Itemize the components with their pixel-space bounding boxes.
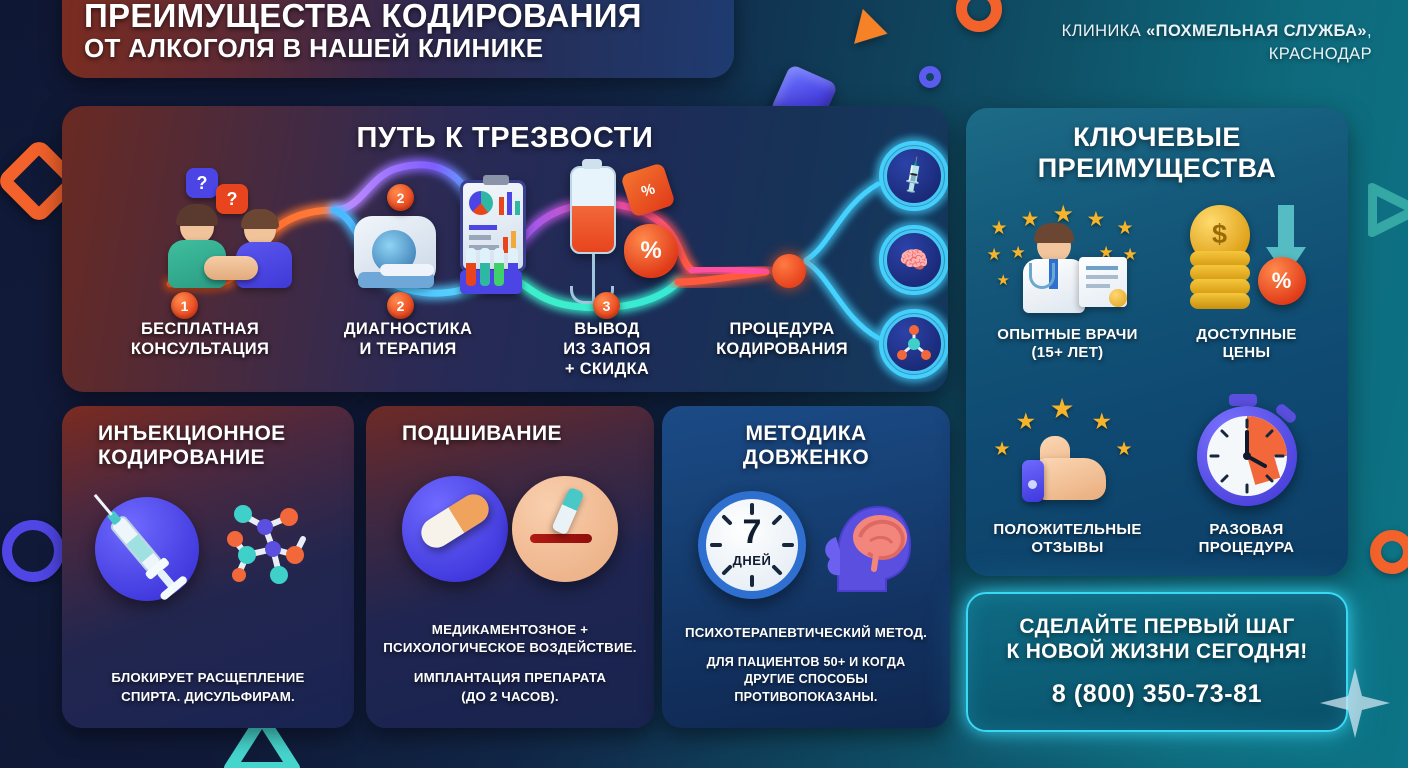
method-desc-2-p1: МЕДИКАМЕНТОЗНОЕ + ПСИХОЛОГИЧЕСКОЕ ВОЗДЕЙ… (383, 621, 636, 658)
cta-line1: СДЕЛАЙТЕ ПЕРВЫЙ ШАГ (1006, 615, 1307, 640)
clock-unit: ДНЕЙ (698, 553, 806, 568)
key-advantages-card: КЛЮЧЕВЫЕ ПРЕИМУЩЕСТВА ★ ★ ★ ★ ★ ★ ★ ★ ★ (966, 108, 1348, 576)
molecule-icon (884, 314, 944, 374)
brand-clinic-name: КЛИНИКА «ПОХМЕЛЬНАЯ СЛУЖБА», КРАСНОДАР (1052, 20, 1372, 66)
step-badge-3: 3 (593, 292, 620, 319)
clock-number: 7 (698, 513, 806, 552)
method-desc-2-p2: ИМПЛАНТАЦИЯ ПРЕПАРАТА (ДО 2 ЧАСОВ). (383, 669, 636, 706)
purple-ring-outline-icon (2, 520, 64, 582)
method-title-3: МЕТОДИКА ДОВЖЕНКО (743, 422, 869, 469)
step-badge-1: 1 (171, 292, 198, 319)
method-title-2: ПОДШИВАНИЕ (380, 422, 562, 446)
method-desc-3-p1: ПСИХОТЕРАПЕВТИЧЕСКИЙ МЕТОД. (685, 624, 927, 642)
advantage-label-1: ОПЫТНЫЕ ВРАЧИ (15+ ЛЕТ) (997, 326, 1137, 362)
method-art-2 (402, 476, 618, 582)
method-title-1: ИНЪЕКЦИОННОЕ КОДИРОВАНИЕ (76, 422, 286, 469)
cta-line2: К НОВОЙ ЖИЗНИ СЕГОДНЯ! (1006, 640, 1307, 665)
path-to-sobriety-card: ПУТЬ К ТРЕЗВОСТИ (62, 106, 948, 392)
teal-triangle-outline-right-icon (1368, 182, 1408, 243)
cta-panel[interactable]: СДЕЛАЙТЕ ПЕРВЫЙ ШАГ К НОВОЙ ЖИЗНИ СЕГОДН… (966, 592, 1348, 732)
stopwatch-icon (1187, 395, 1307, 515)
step-label-1: БЕСПЛАТНАЯ КОНСУЛЬТАЦИЯ (90, 320, 310, 360)
page-title-line2: ОТ АЛКОГОЛЯ В НАШЕЙ КЛИНИКЕ (84, 33, 734, 64)
molecule-icon (217, 493, 321, 597)
cta-text: СДЕЛАЙТЕ ПЕРВЫЙ ШАГ К НОВОЙ ЖИЗНИ СЕГОДН… (1006, 615, 1307, 665)
handshake-people-icon: ? ? (160, 168, 310, 288)
method-desc-1: БЛОКИРУЕТ РАСЩЕПЛЕНИЕ СПИРТА. ДИСУЛЬФИРА… (111, 669, 304, 712)
advantage-label-3: ПОЛОЖИТЕЛЬНЫЕ ОТЗЫВЫ (993, 521, 1141, 557)
header-card: ПРЕИМУЩЕСТВА КОДИРОВАНИЯ ОТ АЛКОГОЛЯ В Н… (62, 0, 734, 78)
advantage-label-2: ДОСТУПНЫЕ ЦЕНЫ (1196, 326, 1296, 362)
cta-phone[interactable]: 8 (800) 350-73-81 (1052, 680, 1262, 709)
method-art-1 (95, 491, 321, 599)
advantage-item-doctors: ★ ★ ★ ★ ★ ★ ★ ★ ★ ★ (978, 200, 1157, 395)
advantages-title: КЛЮЧЕВЫЕ ПРЕИМУЩЕСТВА (978, 122, 1336, 184)
method-card-injection: ИНЪЕКЦИОННОЕ КОДИРОВАНИЕ (62, 406, 354, 728)
advantages-grid: ★ ★ ★ ★ ★ ★ ★ ★ ★ ★ (978, 200, 1336, 590)
syringe-disc-icon (95, 491, 203, 599)
advantage-item-one-time: РАЗОВАЯ ПРОЦЕДУРА (1157, 395, 1336, 590)
infographic-canvas: ПРЕИМУЩЕСТВА КОДИРОВАНИЯ ОТ АЛКОГОЛЯ В Н… (0, 0, 1408, 768)
method-desc-1-p1: БЛОКИРУЕТ РАСЩЕПЛЕНИЕ СПИРТА. ДИСУЛЬФИРА… (111, 669, 304, 706)
coding-node-icon (772, 254, 806, 288)
method-art-3: 7 ДНЕЙ (698, 491, 914, 599)
method-card-dovzhenko: МЕТОДИКА ДОВЖЕНКО 7 ДНЕЙ (662, 406, 950, 728)
doctor-certificate-stars-icon: ★ ★ ★ ★ ★ ★ ★ ★ ★ ★ (983, 200, 1153, 320)
step-label-2: ДИАГНОСТИКА И ТЕРАПИЯ (308, 320, 508, 360)
iv-drip-discount-icon: % % (560, 166, 700, 306)
coins-discount-arrow-icon: $ % (1172, 200, 1322, 320)
brand-prefix: КЛИНИКА (1062, 22, 1146, 40)
step-label-4: ПРОЦЕДУРА КОДИРОВАНИЯ (692, 320, 872, 360)
small-purple-ring-icon (919, 66, 941, 88)
brand-name: «ПОХМЕЛЬНАЯ СЛУЖБА» (1146, 22, 1367, 40)
advantage-item-prices: $ % ДОСТУПНЫЕ ЦЕНЫ (1157, 200, 1336, 395)
orange-triangle-icon (854, 9, 892, 51)
advantage-label-4: РАЗОВАЯ ПРОЦЕДУРА (1199, 521, 1295, 557)
thumbs-up-stars-icon: ★ ★ ★ ★ ★ (988, 395, 1148, 515)
method-desc-2: МЕДИКАМЕНТОЗНОЕ + ПСИХОЛОГИЧЕСКОЕ ВОЗДЕЙ… (383, 621, 636, 712)
advantage-item-reviews: ★ ★ ★ ★ ★ ПОЛОЖИТЕЛЬНЫЕ ОТЗЫВЫ (978, 395, 1157, 590)
orange-ring-right-icon (1370, 530, 1408, 574)
page-title-line1: ПРЕИМУЩЕСТВА КОДИРОВАНИЯ (84, 0, 734, 33)
step-label-3: ВЫВОД ИЗ ЗАПОЯ + СКИДКА (532, 320, 682, 379)
skin-incision-icon (512, 476, 618, 582)
method-desc-3-p2: ДЛЯ ПАЦИЕНТОВ 50+ И КОГДА ДРУГИЕ СПОСОБЫ… (685, 654, 927, 706)
method-card-implantation: ПОДШИВАНИЕ МЕДИКАМЕНТОЗНОЕ + ПСИХОЛОГИЧЕ… (366, 406, 654, 728)
test-tubes-icon (460, 246, 524, 296)
orange-ring-icon (956, 0, 1002, 32)
method-desc-3: ПСИХОТЕРАПЕВТИЧЕСКИЙ МЕТОД. ДЛЯ ПАЦИЕНТО… (685, 624, 927, 712)
step-badge-2: 2 (387, 292, 414, 319)
capsule-pill-icon (402, 476, 508, 582)
step-badge-2-top: 2 (387, 184, 414, 211)
syringe-icon: 💉 (884, 146, 944, 206)
clock-7-days-icon: 7 ДНЕЙ (698, 491, 806, 599)
head-brain-icon: 🧠 (884, 230, 944, 290)
head-brain-icon (808, 491, 914, 599)
